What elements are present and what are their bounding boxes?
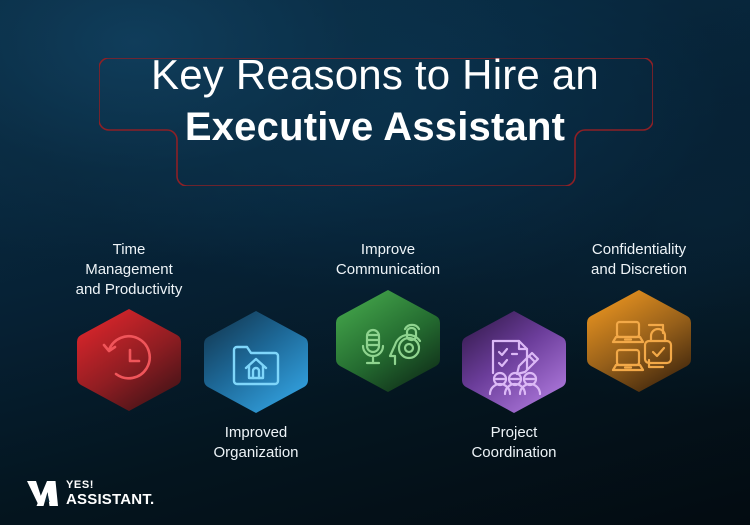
infographic-canvas: Key Reasons to Hire an Executive Assista…: [0, 0, 750, 525]
logo-text-top: YES!: [66, 480, 154, 491]
card-project-coordination[interactable]: Project Coordination: [453, 310, 575, 463]
title-line-2: Executive Assistant: [0, 105, 750, 150]
card-label: Time Management and Productivity: [68, 240, 190, 299]
card-improve-communication[interactable]: Improve Communication: [327, 240, 449, 393]
card-hexagon: [583, 289, 695, 393]
title-line-1: Key Reasons to Hire an: [0, 52, 750, 98]
brand-logo[interactable]: YES! ASSISTANT.: [26, 480, 154, 507]
card-label: Improve Communication: [327, 240, 449, 280]
va-monogram-icon: [26, 480, 59, 507]
card-label: Confidentiality and Discretion: [578, 240, 700, 280]
card-label: Project Coordination: [453, 423, 575, 463]
card-improved-organization[interactable]: Improved Organization: [195, 310, 317, 463]
card-confidentiality[interactable]: Confidentiality and Discretion: [578, 240, 700, 393]
card-hexagon: [458, 310, 570, 414]
card-time-management[interactable]: Time Management and Productivity: [68, 240, 190, 412]
card-hexagon: [200, 310, 312, 414]
page-title: Key Reasons to Hire an Executive Assista…: [0, 52, 750, 150]
card-label: Improved Organization: [195, 423, 317, 463]
card-hexagon: [73, 308, 185, 412]
card-hexagon: [332, 289, 444, 393]
logo-text-bottom: ASSISTANT.: [66, 492, 154, 507]
